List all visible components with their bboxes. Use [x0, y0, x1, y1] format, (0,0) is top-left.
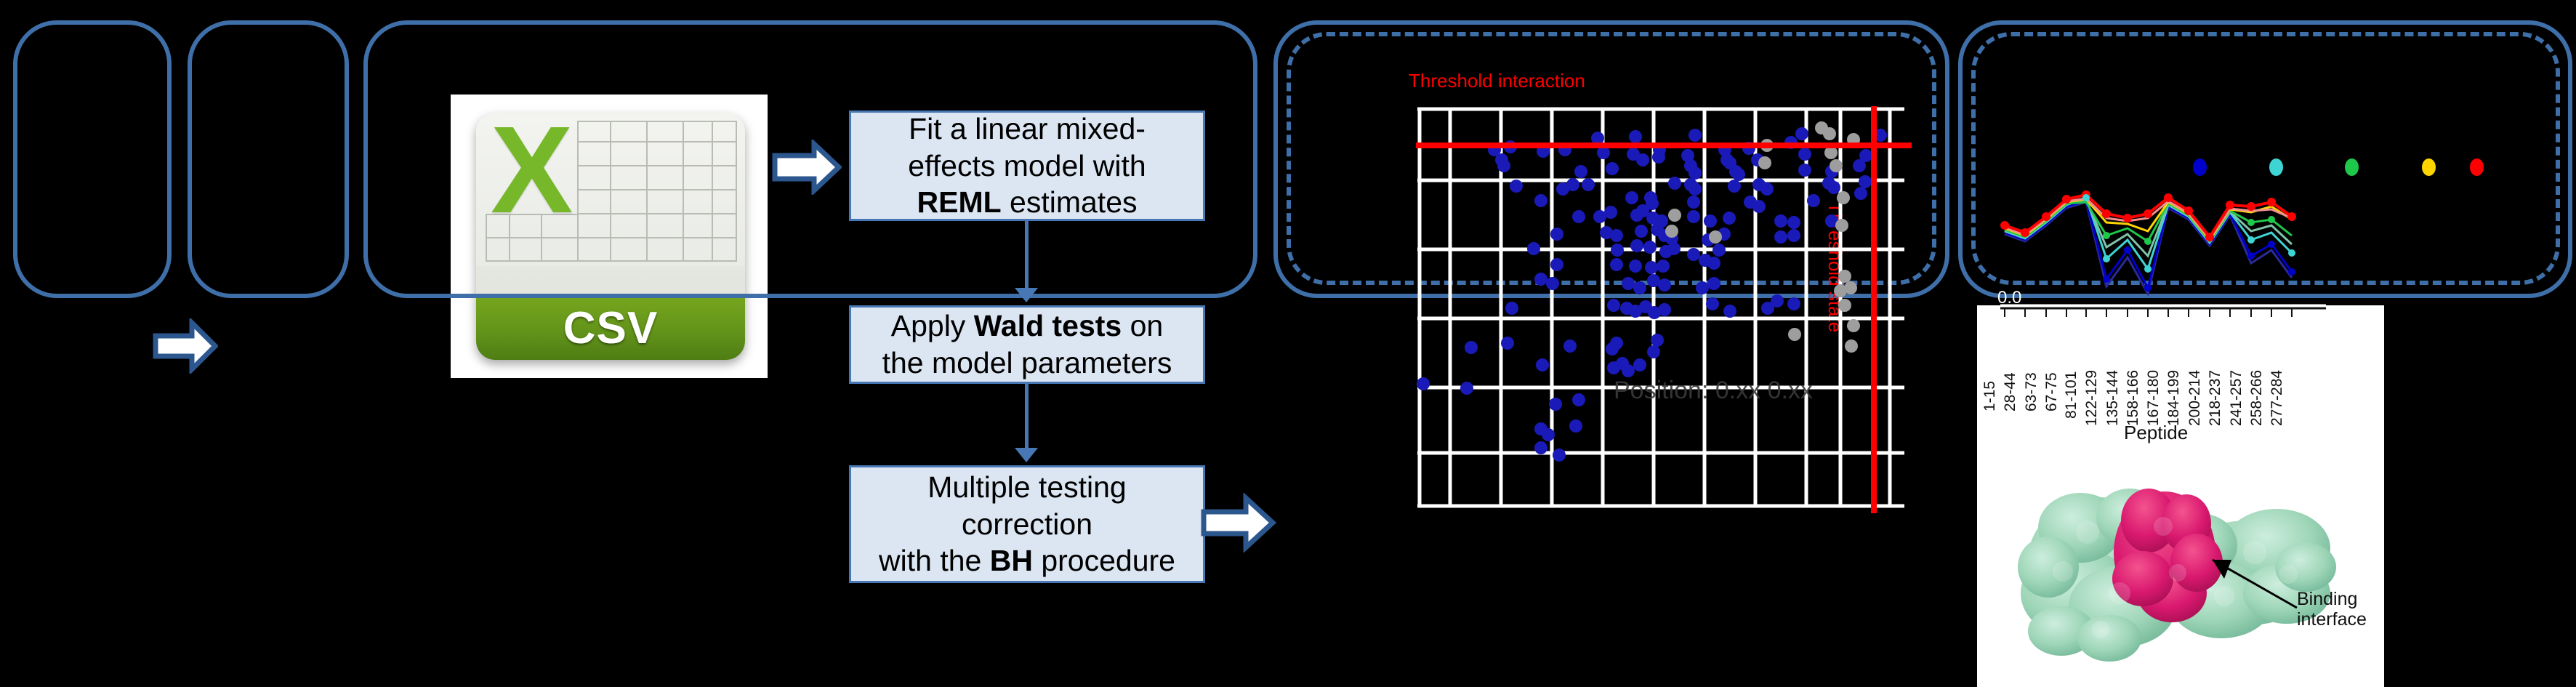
flowbox-model-line3rest: estimates [1002, 185, 1138, 219]
flowbox-bh-bold: BH [990, 544, 1033, 577]
peptide-tick-label: 63-73 [2023, 372, 2040, 411]
peptide-tick-label: 167-180 [2145, 370, 2162, 426]
peptide-tick-label: 122-129 [2083, 370, 2101, 426]
flowbox-bh: Multiple testing correction with the BH … [849, 465, 1205, 583]
peptide-tick-label: 218-237 [2207, 370, 2224, 426]
arrow-into-input-icon [153, 318, 218, 374]
peptide-panel: 0.0 1-15 28-44 63-73 67-75 81-101 122-12… [1984, 145, 2566, 687]
peptide-x-axis [1984, 305, 2391, 324]
svg-text:Position: 0.xx 0.xx: Position: 0.xx 0.xx [1614, 377, 1813, 404]
flowbox-bh-l2: correction [962, 507, 1092, 541]
peptide-tick-label: 158-166 [2125, 370, 2142, 426]
stage-box-csv [188, 20, 349, 298]
legend-dot-green [2345, 158, 2359, 176]
peptide-tick-label: 28-44 [2002, 372, 2019, 411]
peptide-tick-label: 277-284 [2269, 370, 2286, 426]
legend-dot-red [2470, 158, 2484, 176]
flowbox-wald-bold: Wald tests [974, 309, 1122, 342]
legend-dot-yellow [2422, 158, 2436, 176]
stage-box-data-input [13, 20, 172, 298]
scatter-plot-svg: Position: 0.xx 0.xx [1323, 93, 1919, 529]
arrow-bh-to-results-icon [1201, 493, 1276, 553]
flowbox-bh-l3a: with the [879, 544, 990, 577]
connector-arrowhead-wald [1015, 288, 1038, 302]
peptide-tick-label: 81-101 [2063, 371, 2080, 419]
flowbox-model-line1: Fit a linear mixed- [909, 112, 1146, 145]
flowbox-model-reml: REML [917, 185, 1002, 219]
flowbox-bh-l1: Multiple testing [927, 470, 1126, 504]
csv-band: CSV [476, 296, 745, 360]
protein-structure-image [1992, 451, 2370, 683]
flowbox-model: Fit a linear mixed- effects model with R… [849, 111, 1205, 221]
peptide-tick-label: 200-214 [2186, 370, 2204, 426]
flowbox-wald-l1a: Apply [891, 309, 974, 342]
binding-interface-line1: Binding [2297, 589, 2367, 609]
binding-interface-line2: interface [2297, 609, 2367, 630]
connector-model-to-wald [1025, 221, 1029, 294]
flowbox-wald-l1b: on [1122, 309, 1163, 342]
peptide-tick-label: 1-15 [1981, 381, 1999, 411]
peptide-tick-label: 184-199 [2165, 370, 2183, 426]
csv-band-label: CSV [563, 302, 658, 354]
legend-dot-cyan [2269, 158, 2283, 176]
peptide-tick-label: 135-144 [2104, 370, 2122, 426]
connector-wald-to-bh [1025, 384, 1029, 452]
peptide-axis-title: Peptide [2124, 422, 2188, 444]
connector-arrowhead-bh [1015, 448, 1038, 462]
peptide-line-chart [1984, 177, 2566, 308]
flowbox-bh-l3b: procedure [1033, 544, 1175, 577]
pipeline-figure: X CSV Fit a linear mixed- effects model … [0, 0, 2576, 687]
flowbox-wald: Apply Wald tests on the model parameters [849, 305, 1205, 384]
scatter-plot: Threshold interaction Threshold state [1323, 64, 1919, 529]
peptide-tick-label: 67-75 [2043, 372, 2061, 411]
binding-interface-annotation: Binding interface [2297, 589, 2367, 630]
flowbox-wald-l2: the model parameters [882, 346, 1172, 379]
peptide-tick-label: 241-257 [2228, 370, 2245, 426]
peptide-tick-label: 258-266 [2248, 370, 2266, 426]
flowbox-model-line2: effects model with [908, 149, 1146, 182]
legend-dot-blue [2193, 158, 2207, 176]
threshold-interaction-label: Threshold interaction [1409, 70, 1585, 92]
